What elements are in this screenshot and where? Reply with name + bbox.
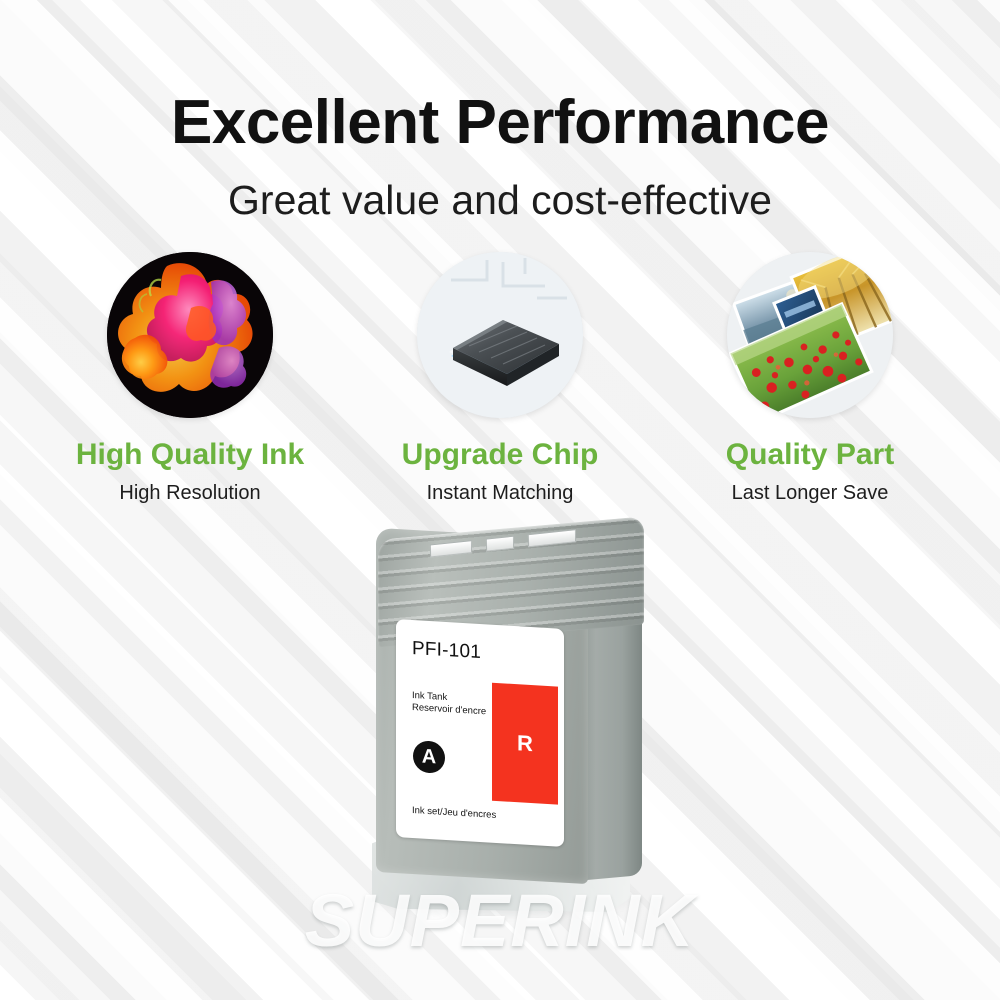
- feature-title: Quality Part: [726, 440, 894, 470]
- label-color-swatch-red: R: [492, 683, 558, 805]
- page-subtitle: Great value and cost-effective: [0, 180, 1000, 221]
- label-model-number: PFI-101: [412, 638, 481, 664]
- label-ink-set-text: Ink set/Jeu d'encres: [412, 805, 496, 821]
- ink-splash-icon: [107, 252, 273, 418]
- page-title: Excellent Performance: [0, 92, 1000, 154]
- product-marketing-image: Excellent Performance Great value and co…: [0, 0, 1000, 1000]
- feature-item-high-quality-ink: High Quality Ink High Resolution: [35, 252, 345, 503]
- cartridge-body: PFI-101 Ink Tank Reservoir d'encre A Ink…: [370, 526, 640, 882]
- feature-list: High Quality Ink High Resolution: [0, 252, 1000, 503]
- feature-subtitle: Last Longer Save: [732, 483, 889, 503]
- printed-photos-icon: [727, 252, 893, 418]
- feature-subtitle: Instant Matching: [427, 483, 574, 503]
- cartridge-printed-label: PFI-101 Ink Tank Reservoir d'encre A Ink…: [396, 619, 564, 847]
- label-ink-tank-text: Ink Tank Reservoir d'encre: [412, 690, 486, 717]
- label-a-badge-icon: A: [413, 740, 445, 774]
- feature-item-quality-part: Quality Part Last Longer Save: [655, 252, 965, 503]
- feature-title: Upgrade Chip: [402, 440, 599, 470]
- microchip-icon: [417, 252, 583, 418]
- product-image-ink-cartridge: PFI-101 Ink Tank Reservoir d'encre A Ink…: [350, 522, 670, 942]
- feature-item-upgrade-chip: Upgrade Chip Instant Matching: [345, 252, 655, 503]
- label-swatch-letter: R: [517, 732, 533, 755]
- feature-subtitle: High Resolution: [119, 483, 260, 503]
- feature-title: High Quality Ink: [76, 440, 304, 470]
